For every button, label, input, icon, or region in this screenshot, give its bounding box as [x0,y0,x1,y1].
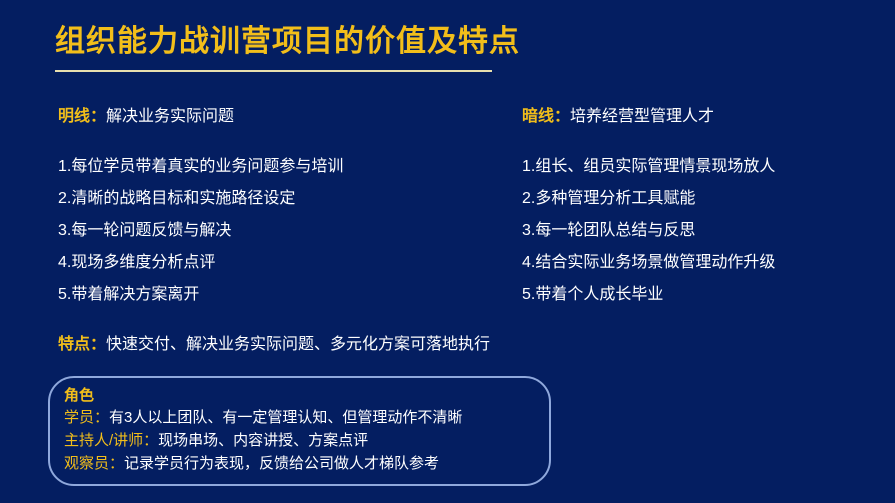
column-mingxian-label: 明线： [58,108,106,125]
list-item: 1.组长、组员实际管理情景现场放人 [522,157,882,189]
feature-summary: 特点：快速交付、解决业务实际问题、多元化方案可落地执行 [58,333,490,357]
column-anxian-header: 暗线：培养经营型管理人才 [522,106,882,128]
role-box-content: 角色 学员：有3人以上团队、有一定管理认知、但管理动作不清晰 主持人/讲师：现场… [64,386,543,475]
list-item: 4.现场多维度分析点评 [58,253,488,285]
list-item: 3.每一轮团队总结与反思 [522,221,882,253]
list-item: 4.结合实际业务场景做管理动作升级 [522,253,882,285]
column-mingxian-header: 明线：解决业务实际问题 [58,106,488,128]
list-item: 5.带着个人成长毕业 [522,285,882,317]
role-value-observer: 记录学员行为表现，反馈给公司做人才梯队参考 [124,455,439,472]
column-mingxian-value: 解决业务实际问题 [106,108,234,125]
column-mingxian: 明线：解决业务实际问题 1.每位学员带着真实的业务问题参与培训 2.清晰的战略目… [58,106,488,128]
page-title: 组织能力战训营项目的价值及特点 [55,24,855,60]
list-item: 1.每位学员带着真实的业务问题参与培训 [58,157,488,189]
content-columns: 明线：解决业务实际问题 1.每位学员带着真实的业务问题参与培训 2.清晰的战略目… [0,106,895,316]
role-label-observer: 观察员： [64,455,124,472]
role-box-title: 角色 [64,386,543,406]
role-row-observer: 观察员：记录学员行为表现，反馈给公司做人才梯队参考 [64,452,543,475]
column-anxian-value: 培养经营型管理人才 [570,108,714,125]
list-item: 2.多种管理分析工具赋能 [522,189,882,221]
role-value-host: 现场串场、内容讲授、方案点评 [158,432,368,449]
role-row-host: 主持人/讲师：现场串场、内容讲授、方案点评 [64,429,543,452]
role-label-student: 学员： [64,409,109,426]
list-item: 2.清晰的战略目标和实施路径设定 [58,189,488,221]
role-box: 角色 学员：有3人以上团队、有一定管理认知、但管理动作不清晰 主持人/讲师：现场… [48,376,551,486]
column-anxian-label: 暗线： [522,108,570,125]
list-item: 3.每一轮问题反馈与解决 [58,221,488,253]
column-anxian-list: 1.组长、组员实际管理情景现场放人 2.多种管理分析工具赋能 3.每一轮团队总结… [522,157,882,317]
feature-label: 特点： [58,336,106,353]
title-block: 组织能力战训营项目的价值及特点 [55,24,855,72]
feature-value: 快速交付、解决业务实际问题、多元化方案可落地执行 [106,336,490,353]
role-value-student: 有3人以上团队、有一定管理认知、但管理动作不清晰 [109,409,462,426]
slide-canvas: 组织能力战训营项目的价值及特点 明线：解决业务实际问题 1.每位学员带着真实的业… [0,0,895,503]
role-row-student: 学员：有3人以上团队、有一定管理认知、但管理动作不清晰 [64,406,543,429]
role-label-host: 主持人/讲师： [64,432,158,449]
column-anxian: 暗线：培养经营型管理人才 1.组长、组员实际管理情景现场放人 2.多种管理分析工… [522,106,882,128]
title-divider [55,70,492,72]
column-mingxian-list: 1.每位学员带着真实的业务问题参与培训 2.清晰的战略目标和实施路径设定 3.每… [58,157,488,317]
list-item: 5.带着解决方案离开 [58,285,488,317]
